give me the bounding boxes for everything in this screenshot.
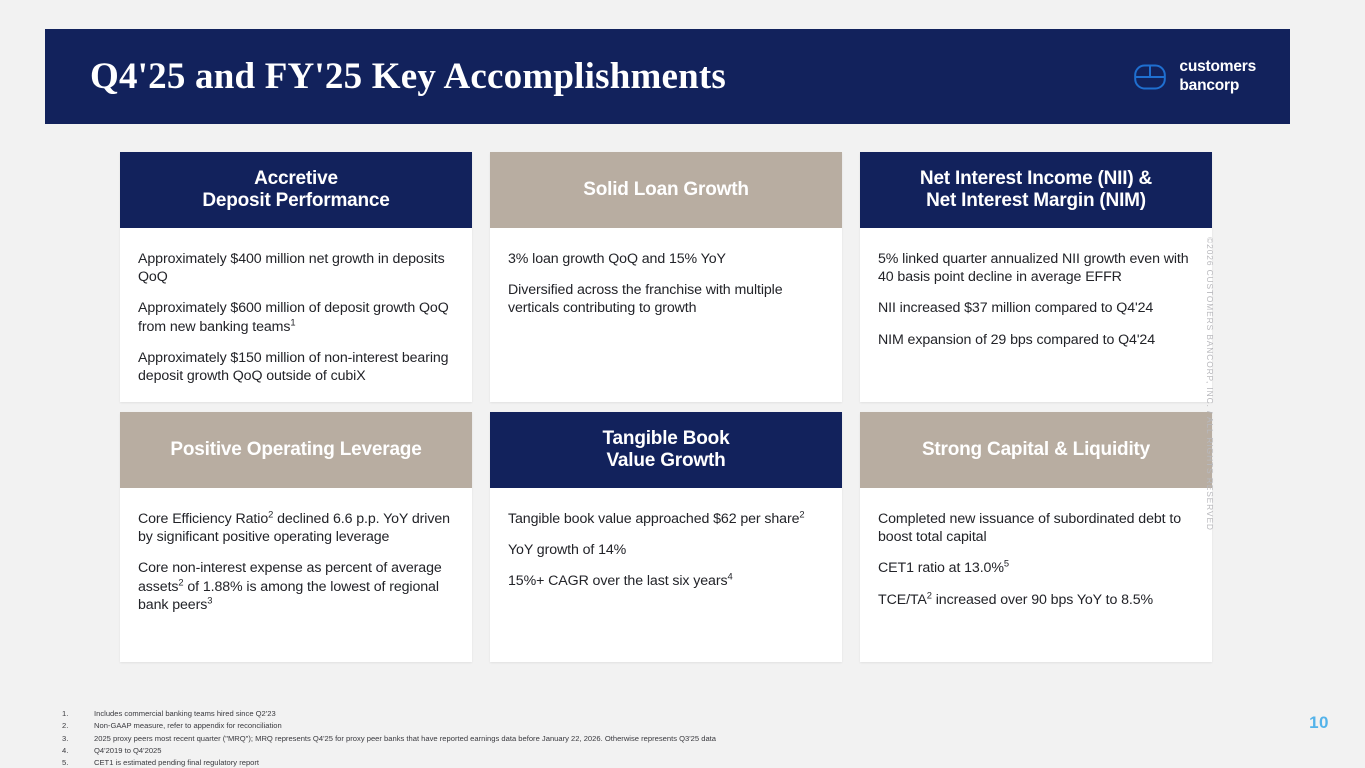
- footnote-text: Q4'2019 to Q4'2025: [94, 745, 1062, 757]
- card-header: Tangible Book Value Growth: [490, 412, 842, 488]
- bullet-item: Approximately $150 million of non-intere…: [138, 349, 454, 385]
- card-body: 5% linked quarter annualized NII growth …: [860, 228, 1212, 402]
- card-header: Accretive Deposit Performance: [120, 152, 472, 228]
- accomplishments-grid: Accretive Deposit Performance Approximat…: [120, 152, 1212, 662]
- card-title-line1: Net Interest Income (NII) &: [920, 168, 1152, 190]
- brand-wordmark-line1: customers: [1179, 58, 1256, 75]
- card-solid-loan-growth: Solid Loan Growth 3% loan growth QoQ and…: [490, 152, 842, 402]
- footnotes: 1. Includes commercial banking teams hir…: [62, 708, 1062, 768]
- bullet-item: Diversified across the franchise with mu…: [508, 281, 824, 317]
- customers-bancorp-mark-icon: [1133, 60, 1167, 94]
- footnote-text: CET1 is estimated pending final regulato…: [94, 757, 1062, 768]
- card-body: Completed new issuance of subordinated d…: [860, 488, 1212, 662]
- footnote-row: 4. Q4'2019 to Q4'2025: [62, 745, 1062, 757]
- bullet-item: CET1 ratio at 13.0%5: [878, 559, 1194, 577]
- footnote-row: 3. 2025 proxy peers most recent quarter …: [62, 733, 1062, 745]
- brand-logo: customers bancorp: [1133, 58, 1256, 95]
- card-strong-capital-and-liquidity: Strong Capital & Liquidity Completed new…: [860, 412, 1212, 662]
- card-body: Tangible book value approached $62 per s…: [490, 488, 842, 662]
- card-body: Approximately $400 million net growth in…: [120, 228, 472, 402]
- bullet-item: Approximately $400 million net growth in…: [138, 250, 454, 286]
- bullet-item: NII increased $37 million compared to Q4…: [878, 299, 1194, 317]
- slide: Q4'25 and FY'25 Key Accomplishments cust…: [0, 0, 1365, 768]
- card-header: Solid Loan Growth: [490, 152, 842, 228]
- card-title-line1: Positive Operating Leverage: [170, 439, 421, 461]
- page-title: Q4'25 and FY'25 Key Accomplishments: [90, 55, 726, 98]
- card-body: 3% loan growth QoQ and 15% YoY Diversifi…: [490, 228, 842, 402]
- footnote-number: 4.: [62, 745, 94, 757]
- bullet-item: 5% linked quarter annualized NII growth …: [878, 250, 1194, 286]
- copyright-notice: ©2026 CUSTOMERS BANCORP, INC. / ALL RIGH…: [1205, 237, 1215, 531]
- card-body: Core Efficiency Ratio2 declined 6.6 p.p.…: [120, 488, 472, 662]
- card-accretive-deposit-performance: Accretive Deposit Performance Approximat…: [120, 152, 472, 402]
- bullet-item: Tangible book value approached $62 per s…: [508, 510, 824, 528]
- page-number: 10: [1309, 713, 1329, 733]
- brand-wordmark: customers bancorp: [1179, 58, 1256, 95]
- card-title-line1: Solid Loan Growth: [583, 179, 748, 201]
- card-title-line2: Net Interest Margin (NIM): [926, 190, 1146, 212]
- footnote-text: 2025 proxy peers most recent quarter ("M…: [94, 733, 1062, 745]
- card-header: Positive Operating Leverage: [120, 412, 472, 488]
- card-title-line2: Value Growth: [606, 450, 725, 472]
- footnote-number: 1.: [62, 708, 94, 720]
- footnote-number: 3.: [62, 733, 94, 745]
- footnote-row: 2. Non-GAAP measure, refer to appendix f…: [62, 720, 1062, 732]
- footnote-row: 1. Includes commercial banking teams hir…: [62, 708, 1062, 720]
- bullet-item: TCE/TA2 increased over 90 bps YoY to 8.5…: [878, 591, 1194, 609]
- bullet-item: 3% loan growth QoQ and 15% YoY: [508, 250, 824, 268]
- card-tangible-book-value-growth: Tangible Book Value Growth Tangible book…: [490, 412, 842, 662]
- card-title-line1: Accretive: [254, 168, 338, 190]
- card-header: Net Interest Income (NII) & Net Interest…: [860, 152, 1212, 228]
- bullet-item: Completed new issuance of subordinated d…: [878, 510, 1194, 546]
- bullet-item: NIM expansion of 29 bps compared to Q4'2…: [878, 331, 1194, 349]
- bullet-item: Core Efficiency Ratio2 declined 6.6 p.p.…: [138, 510, 454, 546]
- title-banner: Q4'25 and FY'25 Key Accomplishments cust…: [45, 29, 1290, 124]
- bullet-item: Core non-interest expense as percent of …: [138, 559, 454, 614]
- footnote-number: 5.: [62, 757, 94, 768]
- footnote-number: 2.: [62, 720, 94, 732]
- bullet-item: YoY growth of 14%: [508, 541, 824, 559]
- footnote-text: Includes commercial banking teams hired …: [94, 708, 1062, 720]
- brand-wordmark-line2: bancorp: [1179, 77, 1239, 94]
- footnote-row: 5. CET1 is estimated pending final regul…: [62, 757, 1062, 768]
- card-title-line2: Deposit Performance: [202, 190, 389, 212]
- bullet-item: 15%+ CAGR over the last six years4: [508, 572, 824, 590]
- card-title-line1: Tangible Book: [603, 428, 730, 450]
- footnote-text: Non-GAAP measure, refer to appendix for …: [94, 720, 1062, 732]
- card-net-interest-income-and-margin: Net Interest Income (NII) & Net Interest…: [860, 152, 1212, 402]
- card-title-line1: Strong Capital & Liquidity: [922, 439, 1150, 461]
- card-header: Strong Capital & Liquidity: [860, 412, 1212, 488]
- bullet-item: Approximately $600 million of deposit gr…: [138, 299, 454, 335]
- card-positive-operating-leverage: Positive Operating Leverage Core Efficie…: [120, 412, 472, 662]
